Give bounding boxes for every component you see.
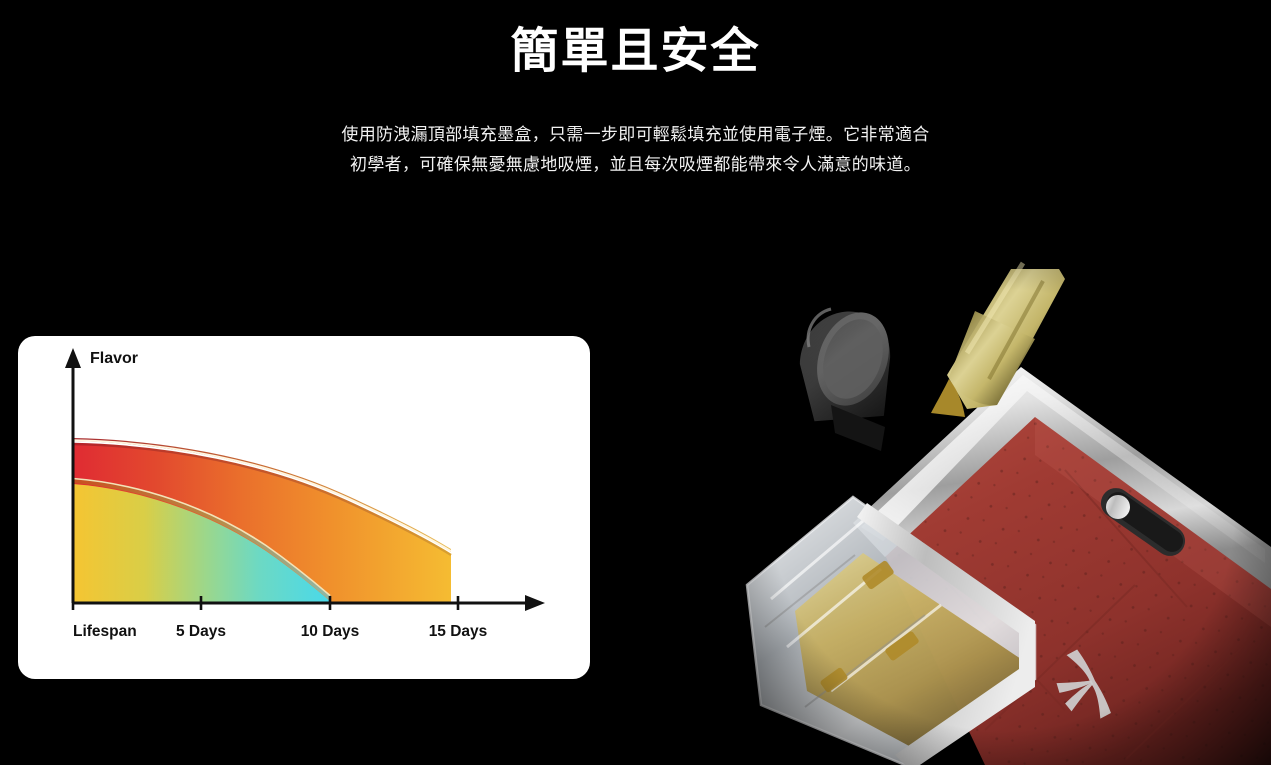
flavor-chart-card: Flavor Lifespan 5 Days 10 Days 15 Days bbox=[18, 336, 590, 679]
product-image bbox=[735, 255, 1271, 765]
page-title: 簡單且安全 bbox=[0, 20, 1271, 84]
hero-description: 使用防洩漏頂部填充墨盒，只需一步即可輕鬆填充並使用電子煙。它非常適合初學者，可確… bbox=[336, 120, 936, 180]
chart-container: Flavor Lifespan 5 Days 10 Days 15 Days bbox=[18, 336, 590, 679]
flavor-area-chart: Flavor Lifespan 5 Days 10 Days 15 Days bbox=[18, 336, 590, 679]
photo-vignette bbox=[735, 255, 1271, 765]
x-tick-label-5-days: 5 Days bbox=[176, 623, 226, 640]
y-axis-arrow-icon bbox=[65, 348, 81, 368]
y-axis-label: Flavor bbox=[90, 350, 138, 367]
x-tick-label-lifespan: Lifespan bbox=[73, 623, 137, 640]
hero-section: 簡單且安全 使用防洩漏頂部填充墨盒，只需一步即可輕鬆填充並使用電子煙。它非常適合… bbox=[0, 0, 1271, 180]
x-tick-label-10-days: 10 Days bbox=[301, 623, 360, 640]
vape-pod-device-illustration bbox=[735, 255, 1271, 765]
x-tick-label-15-days: 15 Days bbox=[429, 623, 488, 640]
x-axis-arrow-icon bbox=[525, 595, 545, 611]
